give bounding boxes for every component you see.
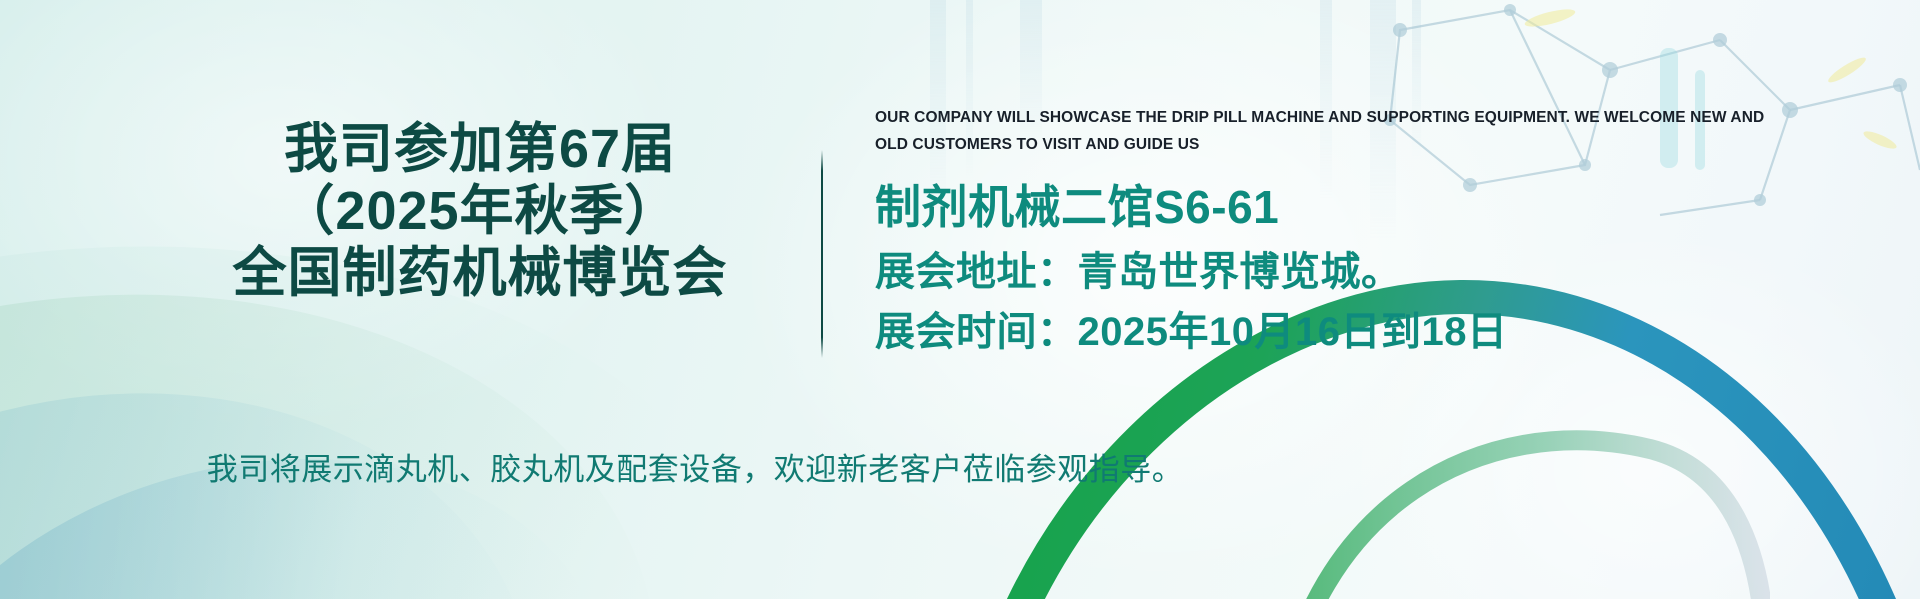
banner-content: 我司参加第67届 （2025年秋季） 全国制药机械博览会 OUR COMPANY… [0,0,1920,599]
english-intro-text: OUR COMPANY WILL SHOWCASE THE DRIP PILL … [875,104,1795,158]
exhibition-banner: 我司参加第67届 （2025年秋季） 全国制药机械博览会 OUR COMPANY… [0,0,1920,599]
event-title-line-2: （2025年秋季） [150,180,810,242]
vertical-divider [821,150,823,358]
footnote-text: 我司将展示滴丸机、胶丸机及配套设备，欢迎新老客户莅临参观指导。 [0,448,1390,492]
event-details: OUR COMPANY WILL SHOWCASE THE DRIP PILL … [875,104,1855,362]
event-title-line-3: 全国制药机械博览会 [150,242,810,304]
date-line: 展会时间：2025年10月16日到18日 [875,302,1855,362]
booth-number: 制剂机械二馆S6-61 [875,178,1855,236]
event-title: 我司参加第67届 （2025年秋季） 全国制药机械博览会 [150,118,810,304]
venue-line: 展会地址：青岛世界博览城。 [875,242,1855,302]
event-title-line-1: 我司参加第67届 [150,118,810,180]
